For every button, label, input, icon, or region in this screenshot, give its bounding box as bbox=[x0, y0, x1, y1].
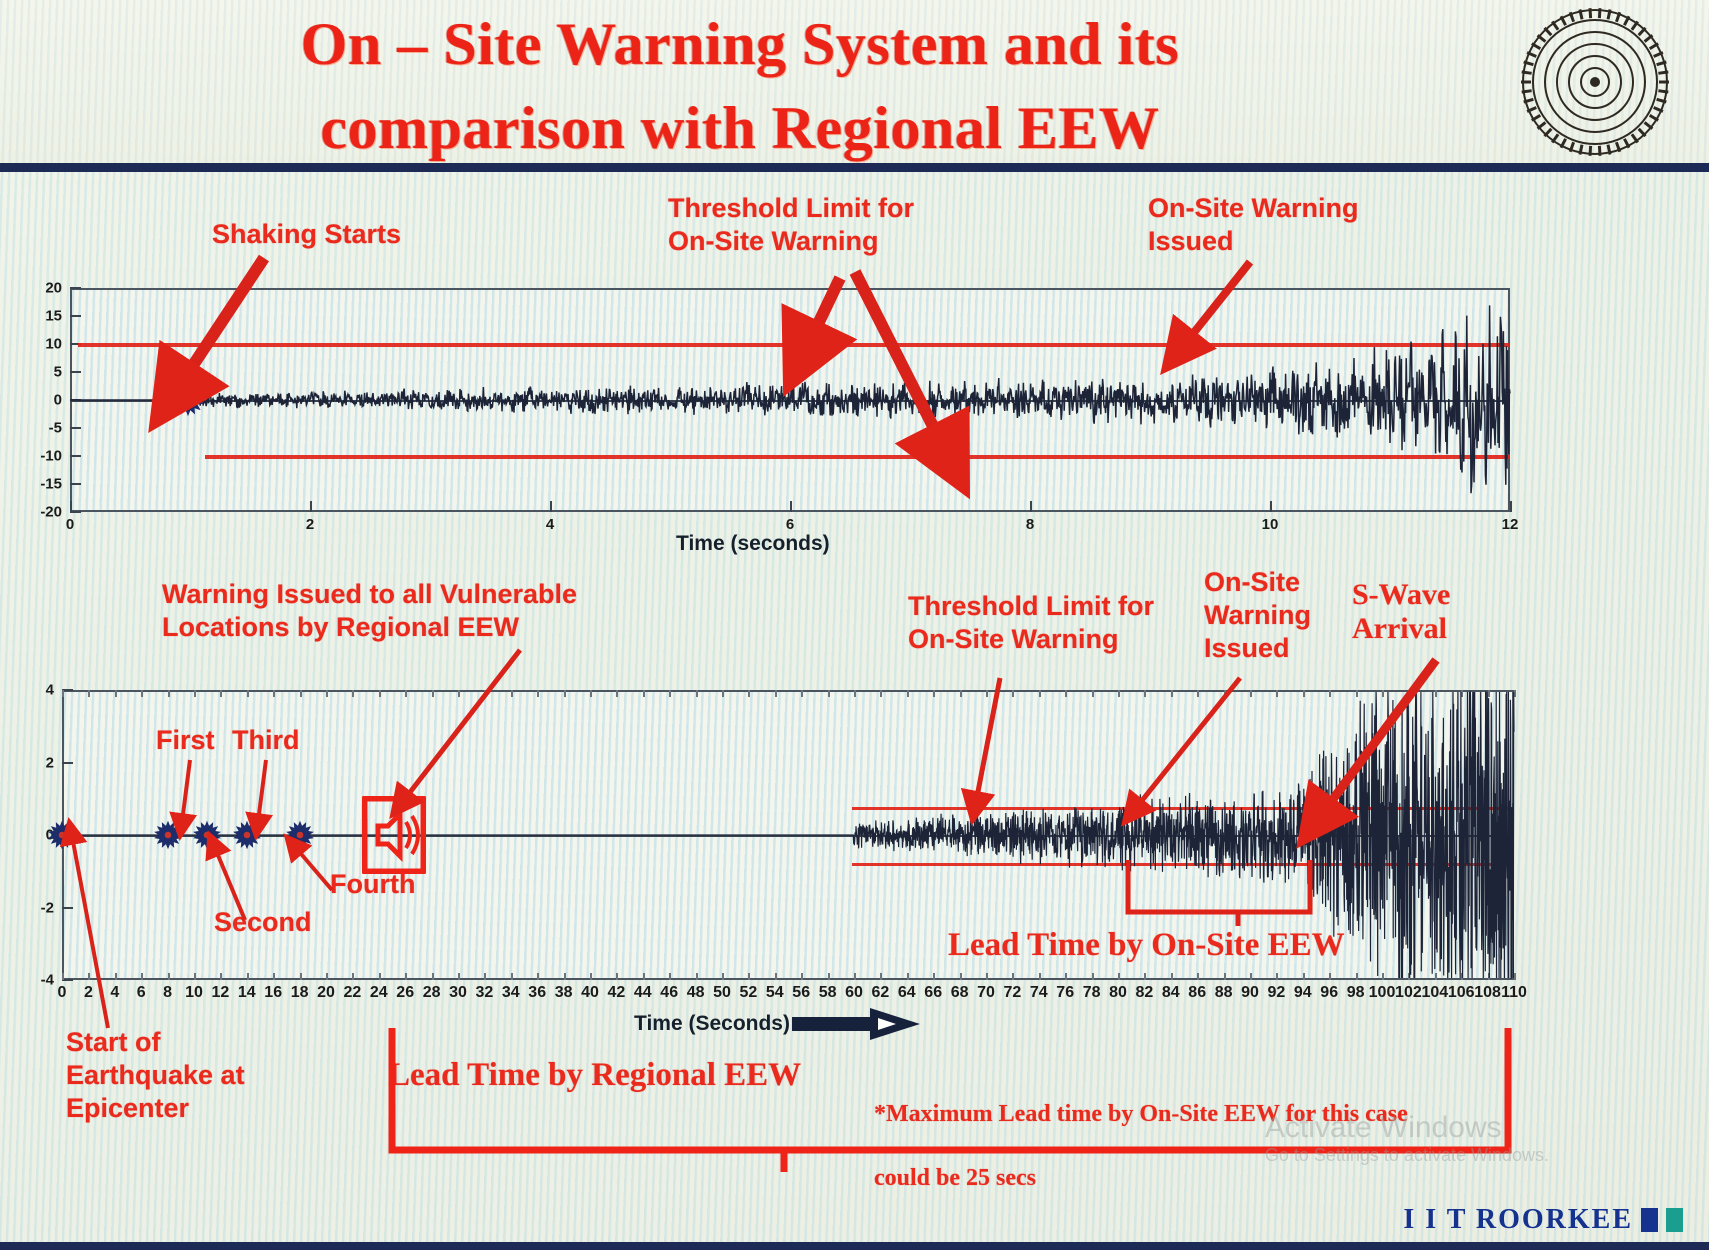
x-tick-mark-top bbox=[933, 690, 935, 697]
x-tick-mark bbox=[1144, 973, 1146, 980]
x-tick-mark-top bbox=[748, 690, 750, 697]
x-tick-mark bbox=[273, 973, 275, 980]
chart2-threshold-lower bbox=[852, 863, 1514, 866]
label-fourth: Fourth bbox=[330, 868, 415, 901]
x-tick-mark bbox=[537, 973, 539, 980]
x-tick-mark bbox=[62, 973, 64, 980]
x-tick-mark bbox=[1510, 501, 1512, 512]
x-tick-mark-top bbox=[88, 690, 90, 697]
x-tick-mark bbox=[775, 973, 777, 980]
x-tick-label: 48 bbox=[687, 980, 705, 1002]
annotation-threshold-limit-1: Threshold Limit for On-Site Warning bbox=[668, 192, 914, 258]
x-tick-label: 86 bbox=[1188, 980, 1206, 1002]
x-tick-label: 102 bbox=[1395, 980, 1422, 1002]
x-tick-mark-top bbox=[1065, 690, 1067, 697]
x-tick-mark bbox=[564, 973, 566, 980]
x-tick-label: 92 bbox=[1267, 980, 1285, 1002]
x-tick-mark-top bbox=[1435, 690, 1437, 697]
x-tick-mark-top bbox=[1303, 690, 1305, 697]
x-tick-label: 16 bbox=[264, 980, 282, 1002]
x-tick-mark-top bbox=[801, 690, 803, 697]
x-tick-mark-top bbox=[828, 690, 830, 697]
x-tick-mark-top bbox=[62, 690, 64, 697]
y-tick-mark bbox=[70, 371, 81, 373]
x-tick-mark bbox=[590, 973, 592, 980]
y-tick-mark bbox=[70, 455, 81, 457]
x-tick-mark bbox=[1224, 973, 1226, 980]
x-tick-mark bbox=[310, 501, 312, 512]
chart1-threshold-lower bbox=[205, 455, 1510, 459]
chart1-shaking-start-marker bbox=[171, 383, 205, 417]
x-tick-mark-top bbox=[854, 690, 856, 697]
x-tick-mark bbox=[801, 973, 803, 980]
x-tick-mark-top bbox=[1171, 690, 1173, 697]
x-tick-mark-top bbox=[352, 690, 354, 697]
y-tick-label: -10 bbox=[40, 448, 70, 465]
x-tick-mark bbox=[960, 973, 962, 980]
x-tick-mark bbox=[1092, 973, 1094, 980]
x-tick-label: 42 bbox=[607, 980, 625, 1002]
x-tick-mark-top bbox=[168, 690, 170, 697]
x-tick-mark-top bbox=[1276, 690, 1278, 697]
x-tick-label: 72 bbox=[1003, 980, 1021, 1002]
annotation-shaking-starts: Shaking Starts bbox=[212, 218, 401, 251]
y-tick-mark bbox=[70, 315, 81, 317]
x-tick-label: 40 bbox=[581, 980, 599, 1002]
x-tick-mark bbox=[300, 973, 302, 980]
x-tick-mark-top bbox=[1039, 690, 1041, 697]
x-tick-mark-top bbox=[405, 690, 407, 697]
chart-on-site-record: 20151050-5-10-15-20 024681012 bbox=[70, 288, 1510, 512]
x-tick-label: 54 bbox=[766, 980, 784, 1002]
x-tick-mark bbox=[168, 973, 170, 980]
slide-header: On – Site Warning System and its compari… bbox=[0, 0, 1709, 172]
x-tick-mark-top bbox=[432, 690, 434, 697]
x-tick-label: 88 bbox=[1215, 980, 1233, 1002]
x-tick-label: 74 bbox=[1030, 980, 1048, 1002]
x-tick-mark-top bbox=[590, 690, 592, 697]
x-tick-mark bbox=[115, 973, 117, 980]
x-tick-label: 68 bbox=[951, 980, 969, 1002]
x-tick-label: 96 bbox=[1320, 980, 1338, 1002]
y-tick-label: 5 bbox=[54, 364, 70, 381]
x-tick-mark bbox=[696, 973, 698, 980]
x-tick-label: 64 bbox=[898, 980, 916, 1002]
y-tick-label: -2 bbox=[41, 899, 62, 916]
annotation-regional-warning: Warning Issued to all Vulnerable Locatio… bbox=[162, 578, 577, 644]
x-tick-label: 6 bbox=[137, 980, 146, 1002]
x-tick-mark-top bbox=[379, 690, 381, 697]
footnote-line-2: could be 25 secs bbox=[874, 1162, 1408, 1194]
x-tick-label: 110 bbox=[1501, 980, 1527, 1002]
x-tick-label: 12 bbox=[211, 980, 229, 1002]
x-tick-mark-top bbox=[484, 690, 486, 697]
x-tick-mark bbox=[432, 973, 434, 980]
watermark-line-1: Activate Windows bbox=[1265, 1111, 1549, 1145]
x-tick-mark bbox=[1461, 973, 1463, 980]
y-tick-mark bbox=[62, 907, 73, 909]
x-tick-mark bbox=[1382, 973, 1384, 980]
x-tick-mark bbox=[70, 501, 72, 512]
x-tick-mark-top bbox=[722, 690, 724, 697]
x-tick-label: 104 bbox=[1421, 980, 1448, 1002]
label-start-of-earthquake: Start of Earthquake at Epicenter bbox=[66, 1026, 245, 1125]
chart2-x-axis-label-text: Time (Seconds) bbox=[634, 1012, 790, 1035]
x-tick-label: 94 bbox=[1294, 980, 1312, 1002]
x-tick-mark-top bbox=[1329, 690, 1331, 697]
x-tick-label: 44 bbox=[634, 980, 652, 1002]
y-tick-mark bbox=[70, 427, 81, 429]
x-tick-label: 26 bbox=[396, 980, 414, 1002]
x-tick-mark-top bbox=[986, 690, 988, 697]
x-tick-mark bbox=[643, 973, 645, 980]
x-tick-mark-top bbox=[220, 690, 222, 697]
x-tick-mark-top bbox=[1092, 690, 1094, 697]
x-tick-label: 20 bbox=[317, 980, 335, 1002]
x-tick-label: 100 bbox=[1369, 980, 1396, 1002]
chart2-zero-line bbox=[62, 835, 1514, 837]
x-tick-mark-top bbox=[1144, 690, 1146, 697]
event-marker-3 bbox=[232, 820, 262, 850]
x-tick-mark-top bbox=[696, 690, 698, 697]
brand-text: I I T ROORKEE bbox=[1403, 1204, 1633, 1236]
event-marker-4 bbox=[285, 820, 315, 850]
x-tick-mark-top bbox=[1197, 690, 1199, 697]
x-tick-label: 70 bbox=[977, 980, 995, 1002]
x-tick-label: 76 bbox=[1056, 980, 1074, 1002]
x-tick-label: 2 bbox=[306, 512, 314, 533]
x-tick-label: 60 bbox=[845, 980, 863, 1002]
x-tick-mark-top bbox=[1488, 690, 1490, 697]
x-tick-mark bbox=[1514, 973, 1516, 980]
x-tick-mark bbox=[1270, 501, 1272, 512]
x-tick-mark-top bbox=[564, 690, 566, 697]
x-tick-mark bbox=[1039, 973, 1041, 980]
chart1-threshold-upper bbox=[78, 343, 1510, 347]
x-tick-label: 50 bbox=[713, 980, 731, 1002]
x-tick-mark bbox=[379, 973, 381, 980]
x-tick-mark bbox=[1250, 973, 1252, 980]
x-tick-label: 12 bbox=[1502, 512, 1519, 533]
x-tick-mark bbox=[880, 973, 882, 980]
x-tick-label: 82 bbox=[1135, 980, 1153, 1002]
x-tick-mark-top bbox=[1118, 690, 1120, 697]
x-tick-mark-top bbox=[669, 690, 671, 697]
x-tick-mark-top bbox=[643, 690, 645, 697]
x-tick-mark-top bbox=[616, 690, 618, 697]
x-tick-mark-top bbox=[194, 690, 196, 697]
x-tick-label: 4 bbox=[110, 980, 119, 1002]
y-tick-label: 4 bbox=[46, 682, 62, 699]
x-tick-mark-top bbox=[1250, 690, 1252, 697]
iit-roorkee-emblem-icon bbox=[1519, 6, 1671, 158]
x-tick-label: 108 bbox=[1474, 980, 1501, 1002]
annotation-threshold-limit-2: Threshold Limit for On-Site Warning bbox=[908, 590, 1154, 656]
brand-square-blue bbox=[1641, 1208, 1658, 1232]
slide-canvas: On – Site Warning System and its compari… bbox=[0, 0, 1709, 1250]
x-tick-mark bbox=[722, 973, 724, 980]
x-tick-label: 0 bbox=[58, 980, 67, 1002]
x-tick-mark bbox=[458, 973, 460, 980]
x-tick-mark-top bbox=[1012, 690, 1014, 697]
x-tick-mark-top bbox=[141, 690, 143, 697]
x-tick-mark bbox=[141, 973, 143, 980]
x-tick-mark-top bbox=[775, 690, 777, 697]
x-tick-mark-top bbox=[273, 690, 275, 697]
x-tick-label: 58 bbox=[819, 980, 837, 1002]
y-tick-label: 0 bbox=[54, 392, 70, 409]
x-tick-mark bbox=[1171, 973, 1173, 980]
x-tick-mark bbox=[1030, 501, 1032, 512]
x-tick-mark bbox=[616, 973, 618, 980]
x-tick-mark bbox=[933, 973, 935, 980]
x-tick-mark bbox=[748, 973, 750, 980]
chart1-zero-line bbox=[70, 400, 1510, 402]
x-tick-mark bbox=[1197, 973, 1199, 980]
y-tick-mark bbox=[70, 483, 81, 485]
x-tick-mark bbox=[352, 973, 354, 980]
y-tick-mark bbox=[70, 287, 81, 289]
x-tick-mark-top bbox=[326, 690, 328, 697]
x-tick-mark bbox=[220, 973, 222, 980]
x-tick-mark bbox=[326, 973, 328, 980]
footer-band bbox=[0, 1242, 1709, 1250]
y-tick-label: 15 bbox=[45, 308, 70, 325]
y-tick-label: 10 bbox=[45, 336, 70, 353]
x-tick-label: 10 bbox=[185, 980, 203, 1002]
x-tick-label: 56 bbox=[792, 980, 810, 1002]
x-tick-label: 18 bbox=[291, 980, 309, 1002]
x-tick-label: 46 bbox=[660, 980, 678, 1002]
y-tick-label: 2 bbox=[46, 754, 62, 771]
page-title: On – Site Warning System and its compari… bbox=[150, 2, 1330, 170]
x-tick-mark-top bbox=[880, 690, 882, 697]
annotation-lead-time-regional: Lead Time by Regional EEW bbox=[388, 1058, 801, 1092]
x-tick-mark-top bbox=[1224, 690, 1226, 697]
x-tick-label: 24 bbox=[370, 980, 388, 1002]
x-tick-label: 8 bbox=[1026, 512, 1034, 533]
x-tick-mark-top bbox=[115, 690, 117, 697]
title-line-1: On – Site Warning System and its bbox=[150, 2, 1330, 86]
x-tick-label: 98 bbox=[1347, 980, 1365, 1002]
x-tick-mark bbox=[484, 973, 486, 980]
label-second: Second bbox=[214, 906, 312, 939]
x-tick-mark-top bbox=[1408, 690, 1410, 697]
x-tick-mark bbox=[550, 501, 552, 512]
x-tick-label: 36 bbox=[528, 980, 546, 1002]
x-tick-label: 28 bbox=[423, 980, 441, 1002]
brand-iit-roorkee: I I T ROORKEE bbox=[1403, 1204, 1683, 1236]
x-tick-mark-top bbox=[247, 690, 249, 697]
x-tick-label: 90 bbox=[1241, 980, 1259, 1002]
time-direction-arrow-icon bbox=[792, 1008, 922, 1042]
x-tick-mark bbox=[669, 973, 671, 980]
x-tick-mark bbox=[194, 973, 196, 980]
x-tick-label: 84 bbox=[1162, 980, 1180, 1002]
x-tick-label: 6 bbox=[786, 512, 794, 533]
windows-activation-watermark: Activate Windows Go to Settings to activ… bbox=[1265, 1111, 1549, 1166]
brand-square-teal bbox=[1666, 1208, 1683, 1232]
x-tick-mark bbox=[1276, 973, 1278, 980]
x-tick-label: 0 bbox=[66, 512, 74, 533]
x-tick-label: 32 bbox=[475, 980, 493, 1002]
x-tick-label: 22 bbox=[343, 980, 361, 1002]
x-tick-mark bbox=[907, 973, 909, 980]
event-marker-1 bbox=[153, 820, 183, 850]
x-tick-mark bbox=[828, 973, 830, 980]
y-tick-mark bbox=[62, 762, 73, 764]
x-tick-label: 2 bbox=[84, 980, 93, 1002]
x-tick-mark bbox=[1065, 973, 1067, 980]
y-tick-label: -5 bbox=[49, 420, 70, 437]
x-tick-label: 30 bbox=[449, 980, 467, 1002]
x-tick-mark bbox=[405, 973, 407, 980]
x-tick-label: 78 bbox=[1083, 980, 1101, 1002]
x-tick-label: 66 bbox=[924, 980, 942, 1002]
x-tick-mark-top bbox=[1356, 690, 1358, 697]
x-tick-mark bbox=[1488, 973, 1490, 980]
annotation-onsite-warning-issued-2: On-Site Warning Issued bbox=[1204, 566, 1311, 665]
x-tick-mark bbox=[88, 973, 90, 980]
x-tick-mark bbox=[1303, 973, 1305, 980]
x-tick-label: 52 bbox=[739, 980, 757, 1002]
chart1-x-axis-label: Time (seconds) bbox=[676, 532, 830, 556]
x-tick-mark bbox=[247, 973, 249, 980]
regional-eew-warning-icon bbox=[362, 796, 426, 874]
chart2-x-axis-label: Time (Seconds) bbox=[634, 1012, 790, 1036]
x-tick-mark bbox=[1435, 973, 1437, 980]
x-tick-mark bbox=[511, 973, 513, 980]
x-tick-mark bbox=[1012, 973, 1014, 980]
x-tick-mark bbox=[1408, 973, 1410, 980]
x-tick-mark bbox=[1356, 973, 1358, 980]
event-marker-0 bbox=[47, 820, 77, 850]
annotation-lead-time-onsite: Lead Time by On-Site EEW bbox=[948, 928, 1345, 962]
x-tick-label: 8 bbox=[163, 980, 172, 1002]
x-tick-label: 106 bbox=[1448, 980, 1475, 1002]
y-tick-label: 20 bbox=[45, 280, 70, 297]
x-tick-label: 10 bbox=[1262, 512, 1279, 533]
x-tick-mark-top bbox=[511, 690, 513, 697]
x-tick-mark-top bbox=[458, 690, 460, 697]
label-first: First bbox=[156, 724, 215, 757]
chart2-threshold-upper bbox=[852, 807, 1514, 810]
x-tick-mark-top bbox=[1461, 690, 1463, 697]
y-tick-label: -15 bbox=[40, 476, 70, 493]
x-tick-mark bbox=[790, 501, 792, 512]
label-third: Third bbox=[232, 724, 300, 757]
x-tick-mark-top bbox=[1382, 690, 1384, 697]
x-tick-mark bbox=[1329, 973, 1331, 980]
annotation-onsite-warning-issued-1: On-Site Warning Issued bbox=[1148, 192, 1359, 258]
x-tick-mark-top bbox=[1514, 690, 1516, 697]
annotation-s-wave-arrival: S-Wave Arrival bbox=[1352, 578, 1450, 646]
watermark-line-2: Go to Settings to activate Windows. bbox=[1265, 1145, 1549, 1166]
x-tick-mark bbox=[1118, 973, 1120, 980]
x-tick-label: 38 bbox=[555, 980, 573, 1002]
x-tick-mark-top bbox=[537, 690, 539, 697]
x-tick-mark bbox=[854, 973, 856, 980]
x-tick-label: 62 bbox=[871, 980, 889, 1002]
x-tick-label: 4 bbox=[546, 512, 554, 533]
x-tick-mark-top bbox=[907, 690, 909, 697]
event-marker-2 bbox=[192, 820, 222, 850]
x-tick-mark-top bbox=[300, 690, 302, 697]
title-line-2: comparison with Regional EEW bbox=[150, 86, 1330, 170]
x-tick-mark-top bbox=[960, 690, 962, 697]
x-tick-label: 80 bbox=[1109, 980, 1127, 1002]
x-tick-label: 14 bbox=[238, 980, 256, 1002]
x-tick-mark bbox=[986, 973, 988, 980]
x-tick-label: 34 bbox=[502, 980, 520, 1002]
